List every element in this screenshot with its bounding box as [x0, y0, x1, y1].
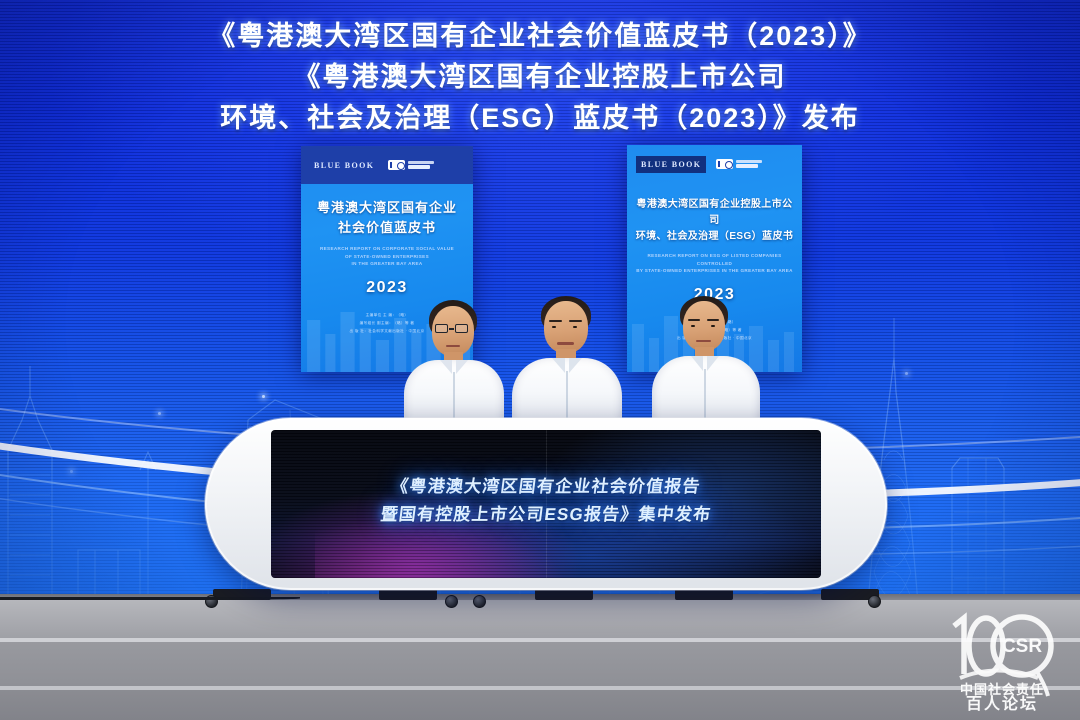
podium-text-line-1: 《粤港澳大湾区国有企业社会价值报告 — [271, 473, 821, 501]
eyebrow-left — [549, 320, 562, 322]
podium-foot — [675, 589, 733, 600]
eye-right — [711, 325, 715, 327]
headline-line-3: 环境、社会及治理（ESG）蓝皮书（2023）》发布 — [0, 98, 1080, 139]
csr-wordmark-mini — [408, 161, 434, 169]
eyeglasses-icon — [433, 324, 475, 336]
csr-logo-mini — [716, 159, 762, 169]
podium-display-unit: 《粤港澳大湾区国有企业社会价值报告 暨国有控股上市公司ESG报告》集中发布 — [205, 418, 887, 590]
person-left — [398, 300, 510, 430]
eye-right — [573, 326, 577, 328]
person-right — [650, 296, 762, 430]
mouth — [446, 345, 460, 347]
eyebrow-right — [707, 319, 719, 321]
csr-cn-line-1: 中国社会责任 — [960, 682, 1044, 697]
caster-wheel — [868, 595, 881, 608]
collar-left — [552, 358, 565, 373]
csr-acronym-text: CSR — [1002, 636, 1042, 657]
podium-text-line-2: 暨国有控股上市公司ESG报告》集中发布 — [271, 501, 821, 529]
book-title-en-line2: BY STATE-OWNED ENTERPRISES IN THE GREATE… — [635, 267, 794, 275]
page-title: 《粤港澳大湾区国有企业社会价值蓝皮书（2023）》 《粤港澳大湾区国有企业控股上… — [0, 16, 1080, 139]
event-photo-stage: 《粤港澳大湾区国有企业社会价值蓝皮书（2023）》 《粤港澳大湾区国有企业控股上… — [0, 0, 1080, 720]
book-title-en-line2: OF STATE-OWNED ENTERPRISES — [309, 253, 465, 261]
book-topbar: BLUE BOOK — [627, 145, 802, 183]
stage-step-3 — [0, 690, 1080, 720]
collar-left — [691, 356, 703, 371]
headline-line-2: 《粤港澳大湾区国有企业控股上市公司 — [0, 57, 1080, 98]
csr-mark-icon — [716, 159, 733, 169]
book-title-cn-line1: 粤港澳大湾区国有企业 — [309, 198, 465, 218]
podium-foot — [379, 589, 437, 600]
mouth — [557, 342, 574, 345]
person-center — [508, 296, 626, 430]
collar-left — [440, 360, 452, 374]
eyebrow-left — [688, 319, 700, 321]
book-title-en-line1: RESEARCH REPORT ON CORPORATE SOCIAL VALU… — [309, 245, 465, 253]
face — [683, 301, 725, 351]
caster-wheel — [445, 595, 458, 608]
csr-logo-mini — [388, 160, 434, 170]
collar-right — [456, 360, 468, 374]
csr-wordmark-mini — [736, 160, 762, 168]
csr-forum-watermark-logo: CSR 中国社会责任 百人论坛 — [938, 604, 1066, 712]
caster-wheel — [473, 595, 486, 608]
podium-led-screen: 《粤港澳大湾区国有企业社会价值报告 暨国有控股上市公司ESG报告》集中发布 — [271, 430, 821, 578]
book-title-cn-line2: 社会价值蓝皮书 — [309, 218, 465, 238]
book-title-en-line3: IN THE GREATER BAY AREA — [309, 260, 465, 268]
collar-right — [707, 356, 719, 371]
podium-foot — [535, 589, 593, 600]
eye-left — [552, 326, 556, 328]
book-topbar: BLUE BOOK — [301, 146, 473, 184]
stage-step-2 — [0, 642, 1080, 686]
collar-right — [569, 358, 582, 373]
csr-cn-line-2: 百人论坛 — [966, 694, 1038, 712]
book-title-cn-line1: 粤港澳大湾区国有企业控股上市公司 — [635, 197, 794, 229]
face — [544, 301, 588, 353]
book-title-cn-line2: 环境、社会及治理（ESG）蓝皮书 — [635, 229, 794, 245]
headline-line-1: 《粤港澳大湾区国有企业社会价值蓝皮书（2023）》 — [0, 16, 1080, 57]
podium-led-text: 《粤港澳大湾区国有企业社会价值报告 暨国有控股上市公司ESG报告》集中发布 — [271, 473, 821, 529]
bluebook-series-label: BLUE BOOK — [310, 158, 378, 173]
csr-mark-icon — [388, 160, 405, 170]
eye-left — [691, 325, 695, 327]
floor-cable — [0, 596, 300, 600]
book-title-en-line1: RESEARCH REPORT ON ESG OF LISTED COMPANI… — [635, 252, 794, 267]
bluebook-series-label: BLUE BOOK — [636, 156, 706, 173]
mouth — [696, 340, 711, 342]
stage-floor-steps — [0, 600, 1080, 720]
eyebrow-right — [569, 320, 582, 322]
